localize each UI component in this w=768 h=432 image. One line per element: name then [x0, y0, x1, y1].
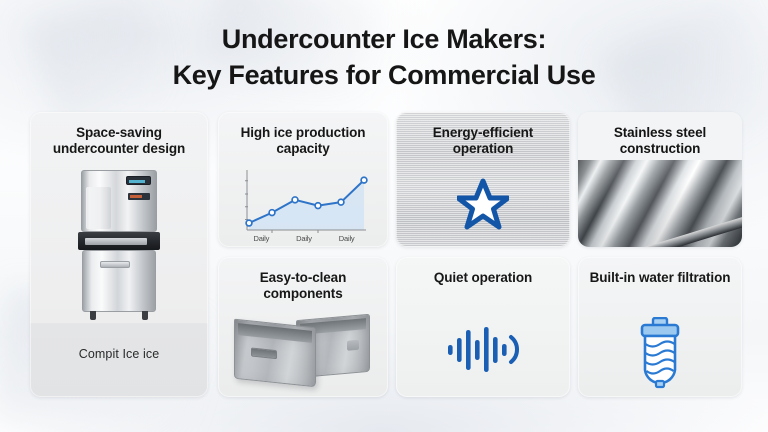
sound-wave-icon — [446, 325, 520, 373]
feature-card-easy-to-clean[interactable]: Easy-to-clean components — [218, 257, 388, 397]
feature-card-quiet-operation[interactable]: Quiet operation — [396, 257, 570, 397]
chart-tick-label: Daily — [253, 234, 269, 243]
chart-tick-label: Daily — [339, 234, 355, 243]
feature-card-energy-efficient[interactable]: Energy-efficient operation — [396, 112, 570, 247]
feature-card-water-filtration[interactable]: Built-in water filtration — [578, 257, 742, 397]
feature-card-label: High ice production capacity — [228, 125, 378, 158]
metal-edge-highlight — [627, 214, 742, 247]
feature-card-grid: Space-saving undercounter design Compit … — [30, 112, 742, 397]
control-panel-secondary — [128, 193, 150, 200]
feature-card-label: Stainless steel construction — [588, 125, 732, 158]
feature-card-label: Quiet operation — [406, 270, 560, 286]
line-area-chart-icon — [240, 168, 368, 236]
feature-card-label: Built-in water filtration — [588, 270, 732, 286]
feature-card-label: Easy-to-clean components — [228, 270, 378, 303]
feature-card-label: Space-saving undercounter design — [40, 125, 198, 158]
page-title-line-2: Key Features for Commercial Use — [0, 58, 768, 94]
control-panel-display — [126, 176, 151, 185]
page-title: Undercounter Ice Makers: Key Features fo… — [0, 22, 768, 93]
brushed-metal-photo-icon — [578, 160, 742, 247]
page-title-line-1: Undercounter Ice Makers: — [222, 24, 546, 54]
feature-card-space-saving[interactable]: Space-saving undercounter design Compit … — [30, 112, 208, 397]
storage-bins-illustration-icon — [232, 313, 376, 389]
feature-card-footer-text: Compit Ice ice — [38, 347, 200, 361]
chart-tick-labels: Daily Daily Daily — [240, 234, 368, 243]
feature-card-ice-production[interactable]: High ice production capacity Daily Daily… — [218, 112, 388, 247]
chart-tick-label: Daily — [296, 234, 312, 243]
water-filter-icon — [632, 317, 688, 389]
ice-machine-illustration-icon — [78, 170, 160, 320]
feature-card-label: Energy-efficient operation — [406, 125, 560, 158]
feature-card-stainless-steel[interactable]: Stainless steel construction — [578, 112, 742, 247]
star-icon — [457, 178, 509, 230]
